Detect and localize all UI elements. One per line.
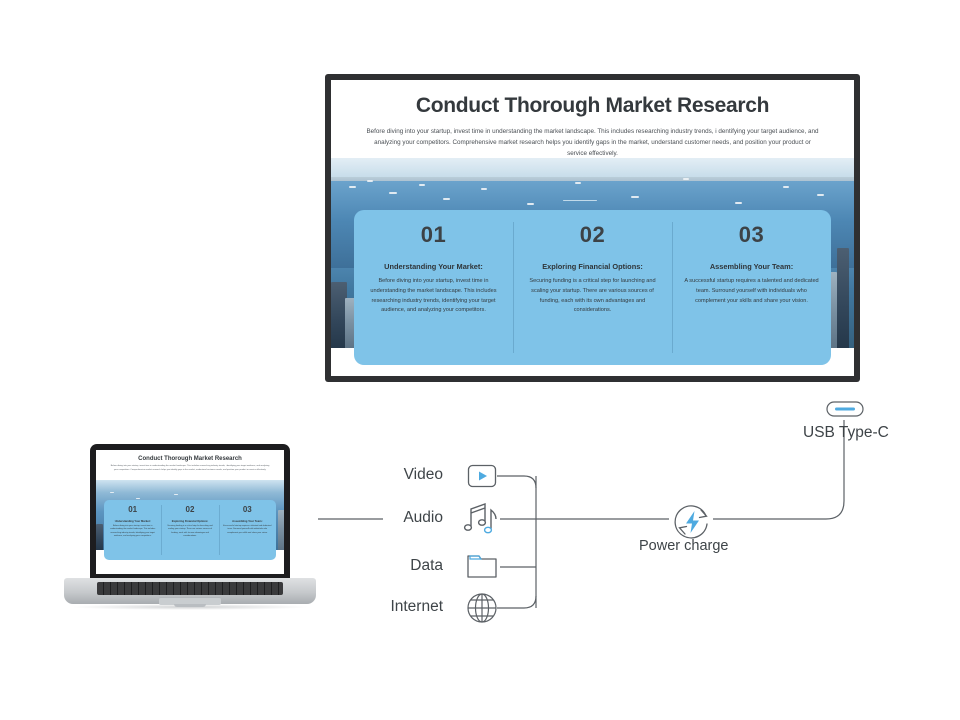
- column-heading: Assembling Your Team:: [684, 262, 819, 271]
- slide-title: Conduct Thorough Market Research: [331, 94, 854, 118]
- card-column: 02 Exploring Financial Options: Securing…: [513, 210, 672, 365]
- laptop-lid: Conduct Thorough Market Research Before …: [90, 444, 290, 582]
- column-heading: Exploring Financial Options:: [525, 262, 660, 271]
- column-number: 02: [165, 506, 214, 514]
- folder-icon: [466, 551, 498, 584]
- connection-label-video: Video: [333, 466, 443, 484]
- column-body: A successful startup requires a talented…: [684, 277, 819, 306]
- usb-type-c-label: USB Type-C: [803, 424, 889, 442]
- power-charge-label: Power charge: [639, 538, 728, 554]
- external-monitor: Conduct Thorough Market Research Before …: [325, 74, 860, 382]
- card-column: 01 Understanding Your Market: Before div…: [354, 210, 513, 365]
- play-icon: [467, 464, 497, 493]
- column-number: 01: [108, 506, 157, 514]
- monitor-screen: Conduct Thorough Market Research Before …: [331, 80, 854, 376]
- column-number: 03: [223, 506, 272, 514]
- column-number: 02: [525, 224, 660, 246]
- laptop-screen: Conduct Thorough Market Research Before …: [96, 450, 284, 574]
- globe-icon: [466, 592, 498, 629]
- column-heading: Understanding Your Market:: [366, 262, 501, 271]
- laptop-slide-subtitle: Before diving into your startup, invest …: [109, 465, 271, 472]
- laptop-card-column: 01 Understanding Your Market: Before div…: [104, 500, 161, 560]
- card-column: 03 Assembling Your Team: A successful st…: [672, 210, 831, 365]
- connection-label-internet: Internet: [325, 598, 443, 616]
- column-heading: Understanding Your Market:: [108, 520, 157, 523]
- laptop-slide-title: Conduct Thorough Market Research: [96, 456, 284, 462]
- column-body: Before diving into your startup, invest …: [366, 277, 501, 316]
- column-body: Securing funding is a critical step for …: [525, 277, 660, 316]
- slide-diagram-canvas: Conduct Thorough Market Research Before …: [0, 0, 960, 720]
- laptop-keyboard: [97, 582, 283, 595]
- column-heading: Assembling Your Team:: [223, 520, 272, 523]
- laptop-card-column: 03 Assembling Your Team: A successful st…: [219, 500, 276, 560]
- usb-c-plug-icon: [826, 401, 864, 422]
- laptop: Conduct Thorough Market Research Before …: [64, 444, 316, 634]
- laptop-latch-notch: [174, 604, 206, 607]
- connection-label-audio: Audio: [333, 509, 443, 527]
- slide-subtitle: Before diving into your startup, invest …: [365, 126, 820, 159]
- column-heading: Exploring Financial Options:: [165, 520, 214, 523]
- three-column-card: 01 Understanding Your Market: Before div…: [354, 210, 831, 365]
- laptop-three-column-card: 01 Understanding Your Market: Before div…: [104, 500, 276, 560]
- column-body: A successful startup requires a talented…: [223, 525, 272, 535]
- laptop-card-column: 02 Exploring Financial Options: Securing…: [161, 500, 218, 560]
- column-number: 01: [366, 224, 501, 246]
- column-body: Before diving into your startup, invest …: [108, 525, 157, 539]
- column-body: Securing funding is a critical step for …: [165, 525, 214, 539]
- column-number: 03: [684, 224, 819, 246]
- music-note-icon: [463, 499, 499, 544]
- connection-label-data: Data: [333, 557, 443, 575]
